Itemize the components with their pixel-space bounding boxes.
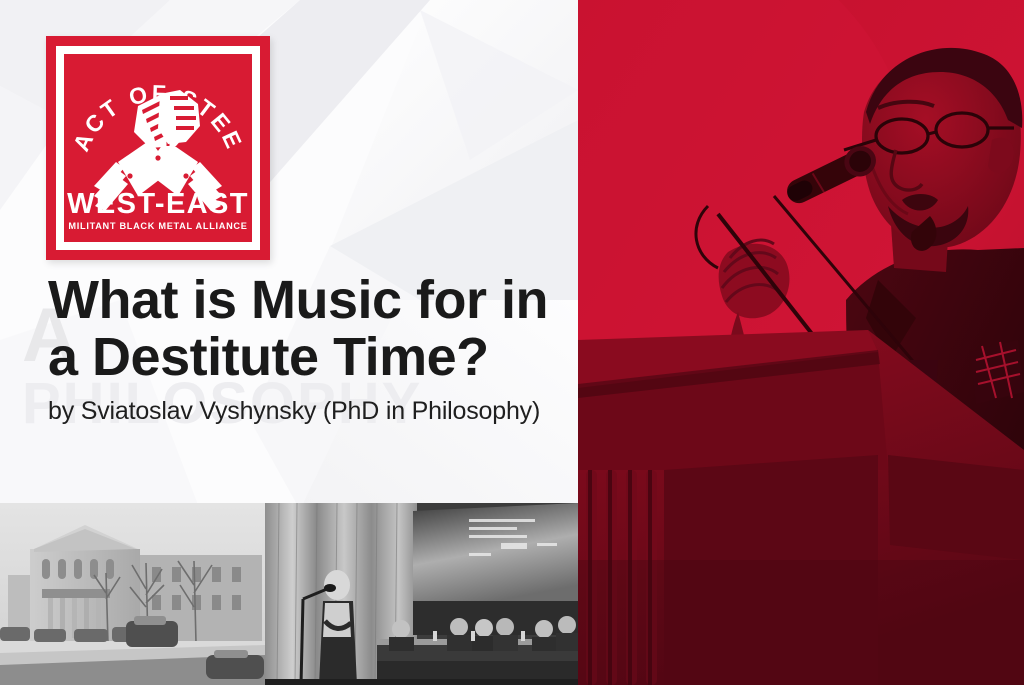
logo-red-field: PACT OF STEEL bbox=[64, 54, 252, 242]
logo-main-text: WEST-EAST bbox=[67, 188, 249, 220]
pact-of-steel-logo: PACT OF STEEL bbox=[46, 36, 270, 260]
page-title: What is Music for in a Destitute Time? bbox=[48, 272, 568, 386]
author-byline: by Sviatoslav Vyshynsky (PhD in Philosop… bbox=[48, 398, 568, 426]
left-content-panel: A PHILOSOPHY PACT OF STEEL bbox=[0, 0, 578, 685]
photo-strip bbox=[0, 503, 578, 685]
logo-sub-text: MILITANT BLACK METAL ALLIANCE bbox=[68, 221, 247, 231]
photo-building bbox=[0, 503, 265, 685]
title-block: What is Music for in a Destitute Time? b… bbox=[48, 272, 568, 426]
poster-canvas: A PHILOSOPHY PACT OF STEEL bbox=[0, 0, 1024, 685]
photo-speaker-red-panel bbox=[578, 0, 1024, 685]
photo-conference bbox=[265, 503, 578, 685]
